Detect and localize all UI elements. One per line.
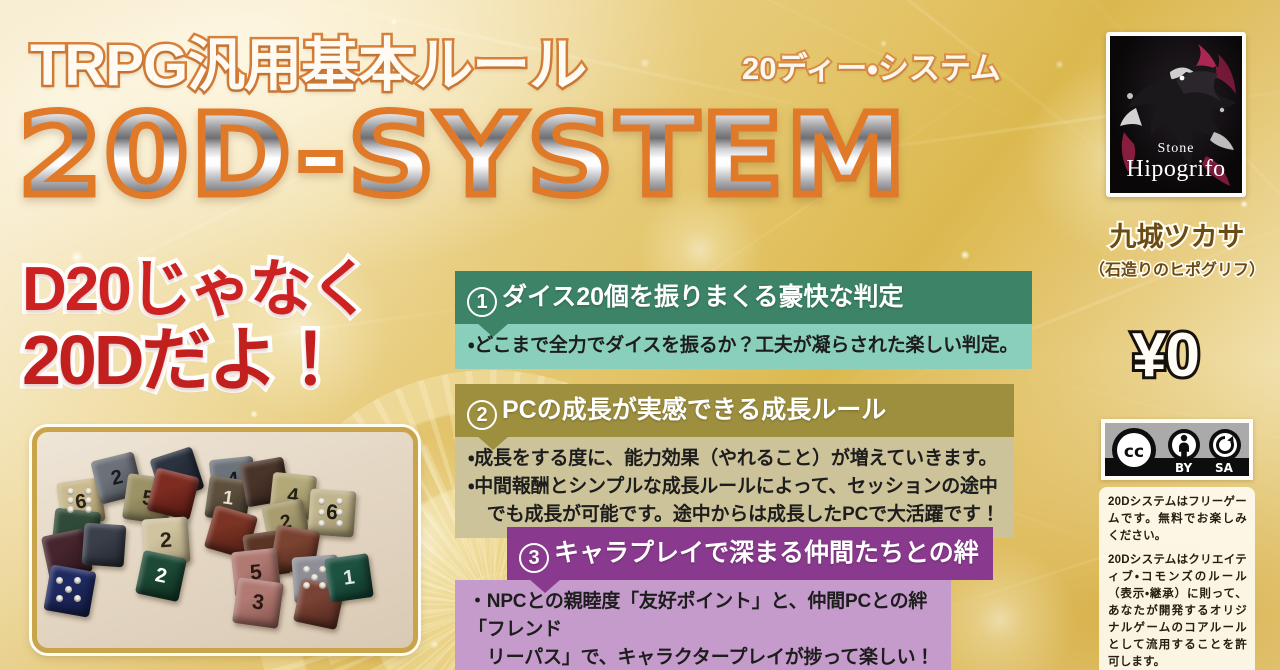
die: 1 — [324, 553, 374, 603]
die-pip — [318, 509, 325, 516]
feature-3-number: 3 — [519, 543, 549, 573]
die-pip — [56, 577, 63, 584]
poster-canvas: TRPG汎用基本ルール 20ディー・システム 20D-SYSTEM 20D-SY… — [0, 0, 1280, 670]
die-pip — [85, 497, 92, 504]
circle-logo-line1: Stone — [1110, 142, 1242, 156]
circle-logo-card: Stone Hipogrifo — [1106, 32, 1246, 197]
die-pip — [74, 577, 81, 584]
feature-2-body: ・成長をする度に、能力効果（やれること）が増えていきます。 ・中間報酬とシンプル… — [455, 437, 1014, 538]
feature-block-2: 2PCの成長が実感できる成長ルール ・成長をする度に、能力効果（やれること）が増… — [455, 384, 1014, 538]
page-title: 20D-SYSTEM 20D-SYSTEM — [18, 96, 1058, 221]
dice-photo: 6252241426531 — [32, 427, 418, 653]
feature-2-header: 2PCの成長が実感できる成長ルール — [455, 384, 1014, 437]
die-pip — [67, 488, 74, 495]
die-pip — [336, 520, 343, 527]
die-pip — [65, 586, 72, 593]
catchcopy-line2: 20Dだよ！ — [22, 324, 442, 396]
creative-commons-badge[interactable]: cc BY SA — [1101, 419, 1253, 480]
feature-3-body: ・NPCとの親睦度「友好ポイント」と、仲間PCとの絆「フレンド リーパス」で、キ… — [455, 580, 951, 670]
die-pip — [318, 498, 325, 505]
catchcopy: D20じゃなく 20Dだよ！ — [22, 258, 442, 396]
license-fineprint-p2: 20Dシステムはクリエイティブ・コモンズのルール（表示・継承）に則って、あなたが… — [1108, 552, 1247, 670]
page-tagline: TRPG汎用基本ルール — [30, 18, 586, 102]
die-pip — [85, 506, 92, 513]
feature-3-title: キャラプレイで深まる仲間たちとの絆 — [554, 539, 979, 567]
die-pip — [319, 566, 326, 573]
svg-text:cc: cc — [1124, 442, 1144, 462]
die-pip — [67, 506, 74, 513]
feature-block-3: 3キャラプレイで深まる仲間たちとの絆 ・NPCとの親睦度「友好ポイント」と、仲間… — [507, 527, 993, 670]
die-pip — [67, 497, 74, 504]
die-pip — [74, 595, 81, 602]
license-fineprint-p1: 20Dシステムはフリーゲームです。無料でお楽しみください。 — [1108, 494, 1247, 545]
feature-1-header: 1ダイス20個を振りまくる豪快な判定 — [455, 271, 1032, 324]
feature-2-line-2: ・中間報酬とシンプルな成長ルールによって、セッションの途中 — [468, 473, 1000, 501]
die-pip — [311, 574, 318, 581]
feature-2-number: 2 — [467, 400, 497, 430]
feature-block-1: 1ダイス20個を振りまくる豪快な判定 ・どこまで全力でダイスを振るか？工夫が凝ら… — [455, 271, 1032, 369]
die — [82, 523, 127, 568]
cc-sa-sharealike-icon — [1208, 428, 1242, 462]
circle-logo-name: Stone Hipogrifo — [1110, 142, 1242, 181]
die: 2 — [135, 550, 187, 602]
circle-logo-art: Stone Hipogrifo — [1110, 36, 1242, 193]
die-pip — [303, 582, 310, 589]
feature-2-title: PCの成長が実感できる成長ルール — [502, 396, 886, 424]
feature-3-line-2: リーパス」で、キャラクタープレイが捗って楽しい！ — [468, 644, 937, 670]
die: 3 — [232, 577, 284, 629]
cc-logo-icon: cc — [1111, 427, 1157, 473]
die-pip — [318, 520, 325, 527]
feature-2-line-3: でも成長が可能です。途中からは成長したPCで大活躍です！ — [468, 501, 1000, 529]
die-pip — [303, 566, 310, 573]
feature-3-line-1: ・NPCとの親睦度「友好ポイント」と、仲間PCとの絆「フレンド — [468, 588, 937, 644]
die-pip — [336, 509, 343, 516]
feature-1-line-1: ・どこまで全力でダイスを振るか？工夫が凝らされた楽しい判定。 — [468, 332, 1018, 360]
feature-1-body: ・どこまで全力でダイスを振るか？工夫が凝らされた楽しい判定。 — [455, 324, 1032, 369]
price-label: ¥0 — [1132, 325, 1199, 387]
feature-1-number: 1 — [467, 287, 497, 317]
license-fineprint: 20Dシステムはフリーゲームです。無料でお楽しみください。 20Dシステムはクリ… — [1099, 487, 1255, 670]
cc-by-label: BY — [1175, 461, 1192, 475]
circle-logo-line2: Hipogrifo — [1110, 157, 1242, 181]
cc-sa-label: SA — [1215, 461, 1233, 475]
page-title-text: 20D-SYSTEM — [18, 96, 1141, 216]
cc-badge-inner: cc BY SA — [1105, 423, 1249, 476]
feature-3-header: 3キャラプレイで深まる仲間たちとの絆 — [507, 527, 993, 580]
cc-by-person-icon — [1167, 428, 1201, 462]
page-tagline-sub: 20ディー・システム — [742, 43, 1001, 88]
catchcopy-line1: D20じゃなく — [22, 258, 442, 322]
author-name: 九城ツカサ — [1082, 215, 1272, 254]
die-pip — [56, 595, 63, 602]
die-pip — [336, 498, 343, 505]
author-circle-name: （石造りのヒポグリフ） — [1072, 256, 1280, 280]
feature-2-line-1: ・成長をする度に、能力効果（やれること）が増えていきます。 — [468, 445, 1000, 473]
die-pip — [319, 582, 326, 589]
feature-1-title: ダイス20個を振りまくる豪快な判定 — [502, 283, 904, 311]
die-pip — [85, 488, 92, 495]
